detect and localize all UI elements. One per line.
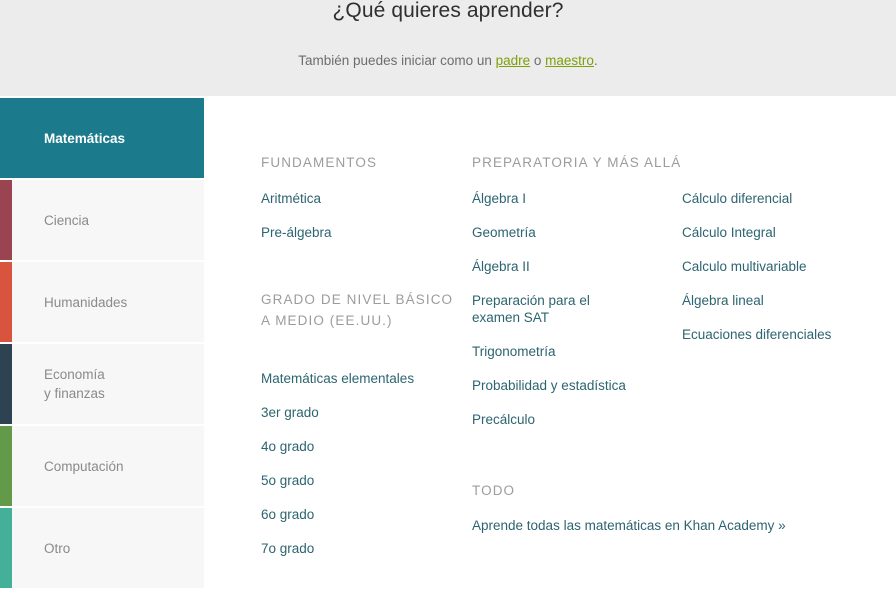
sidebar-item-economia-y-finanzas[interactable]: Economía y finanzas — [0, 344, 204, 424]
list-item: Matemáticas elementales — [261, 370, 461, 387]
subtitle-text-mid: o — [530, 53, 545, 68]
section-heading-grado-de-nivel: GRADO DE NIVEL BÁSICO A MEDIO (EE.UU.) — [261, 290, 461, 331]
teacher-signup-link[interactable]: maestro — [545, 53, 594, 68]
topic-link-calculo-multivariable[interactable]: Calculo multivariable — [682, 258, 807, 275]
topic-link-probabilidad-y-estadistica[interactable]: Probabilidad y estadística — [472, 377, 626, 394]
list-item: Calculo multivariable — [682, 258, 892, 275]
page-title: ¿Qué quieres aprender? — [0, 0, 896, 26]
section-heading-fundamentos: FUNDAMENTOS — [261, 153, 461, 174]
list-item: Pre-álgebra — [261, 224, 461, 241]
list-item: 7o grado — [261, 540, 461, 557]
accent-bar-icon — [0, 262, 12, 342]
list-item: Cálculo diferencial — [682, 190, 892, 207]
list-item: Geometría — [472, 224, 672, 241]
topic-link-matematicas-elementales[interactable]: Matemáticas elementales — [261, 370, 414, 387]
list-item: Aritmética — [261, 190, 461, 207]
list-item: Álgebra lineal — [682, 292, 892, 309]
list-item: Cálculo Integral — [682, 224, 892, 241]
list-item: Álgebra I — [472, 190, 672, 207]
list-item: Ecuaciones diferenciales — [682, 326, 892, 343]
accent-bar-icon — [0, 180, 12, 260]
sidebar-item-otro[interactable]: Otro — [0, 508, 204, 588]
topic-link-aprende-todas-las-matematicas[interactable]: Aprende todas las matemáticas en Khan Ac… — [472, 517, 786, 534]
sidebar-item-computacion[interactable]: Computación — [0, 426, 204, 506]
topic-link-trigonometria[interactable]: Trigonometría — [472, 343, 556, 360]
topic-link-geometria[interactable]: Geometría — [472, 224, 536, 241]
sidebar-item-label: Ciencia — [0, 211, 101, 230]
topic-panel: FUNDAMENTOS Aritmética Pre-álgebra GRADO… — [204, 98, 896, 582]
list-item: Precálculo — [472, 411, 672, 428]
topic-link-algebra-ii[interactable]: Álgebra II — [472, 258, 530, 275]
list-item: Aprende todas las matemáticas en Khan Ac… — [472, 517, 672, 534]
sidebar-item-label: Matemáticas — [0, 129, 137, 148]
accent-bar-icon — [0, 426, 12, 506]
subtitle-text-prefix: También puedes iniciar como un — [298, 53, 495, 68]
sidebar-item-ciencia[interactable]: Ciencia — [0, 180, 204, 260]
sidebar-item-label: Otro — [0, 539, 82, 558]
topic-link-list-preparatoria: Álgebra I Geometría Álgebra II Preparaci… — [472, 190, 672, 445]
topic-link-algebra-i[interactable]: Álgebra I — [472, 190, 526, 207]
list-item: 4o grado — [261, 438, 461, 455]
sidebar-item-matematicas[interactable]: Matemáticas — [0, 98, 204, 178]
sidebar-item-humanidades[interactable]: Humanidades — [0, 262, 204, 342]
topic-link-6o-grado[interactable]: 6o grado — [261, 506, 314, 523]
list-item: 5o grado — [261, 472, 461, 489]
parent-signup-link[interactable]: padre — [496, 53, 531, 68]
topic-link-pre-algebra[interactable]: Pre-álgebra — [261, 224, 332, 241]
topic-link-preparacion-sat[interactable]: Preparación para el examen SAT — [472, 292, 622, 326]
topic-link-list-grados: Matemáticas elementales 3er grado 4o gra… — [261, 370, 461, 574]
accent-bar-icon — [0, 344, 12, 424]
sidebar-item-label: Economía y finanzas — [0, 365, 120, 403]
topic-link-5o-grado[interactable]: 5o grado — [261, 472, 314, 489]
subject-sidebar: Matemáticas Ciencia Humanidades Economía… — [0, 98, 204, 590]
topic-link-ecuaciones-diferenciales[interactable]: Ecuaciones diferenciales — [682, 326, 831, 343]
list-item: 3er grado — [261, 404, 461, 421]
topic-link-list-todo: Aprende todas las matemáticas en Khan Ac… — [472, 517, 672, 534]
topic-link-aritmetica[interactable]: Aritmética — [261, 190, 321, 207]
topic-link-calculo-diferencial[interactable]: Cálculo diferencial — [682, 190, 792, 207]
list-item: Álgebra II — [472, 258, 672, 275]
topic-link-calculo-integral[interactable]: Cálculo Integral — [682, 224, 776, 241]
topic-link-list-advanced: Cálculo diferencial Cálculo Integral Cal… — [682, 190, 892, 360]
topic-link-7o-grado[interactable]: 7o grado — [261, 540, 314, 557]
section-heading-preparatoria: PREPARATORIA Y MÁS ALLÁ — [472, 153, 672, 174]
sidebar-item-label: Humanidades — [0, 293, 139, 312]
sidebar-item-label: Computación — [0, 457, 136, 476]
topic-link-4o-grado[interactable]: 4o grado — [261, 438, 314, 455]
list-item: 6o grado — [261, 506, 461, 523]
topic-link-3er-grado[interactable]: 3er grado — [261, 404, 319, 421]
topic-link-precalculo[interactable]: Precálculo — [472, 411, 535, 428]
topic-link-list-fundamentos: Aritmética Pre-álgebra — [261, 190, 461, 258]
list-item: Trigonometría — [472, 343, 672, 360]
section-heading-todo: TODO — [472, 481, 672, 502]
accent-bar-icon — [0, 508, 12, 588]
list-item: Probabilidad y estadística — [472, 377, 672, 394]
topic-link-algebra-lineal[interactable]: Álgebra lineal — [682, 292, 764, 309]
list-item: Preparación para el examen SAT — [472, 292, 672, 326]
subtitle-text-suffix: . — [594, 53, 598, 68]
header-subtitle: También puedes iniciar como un padre o m… — [0, 51, 896, 70]
